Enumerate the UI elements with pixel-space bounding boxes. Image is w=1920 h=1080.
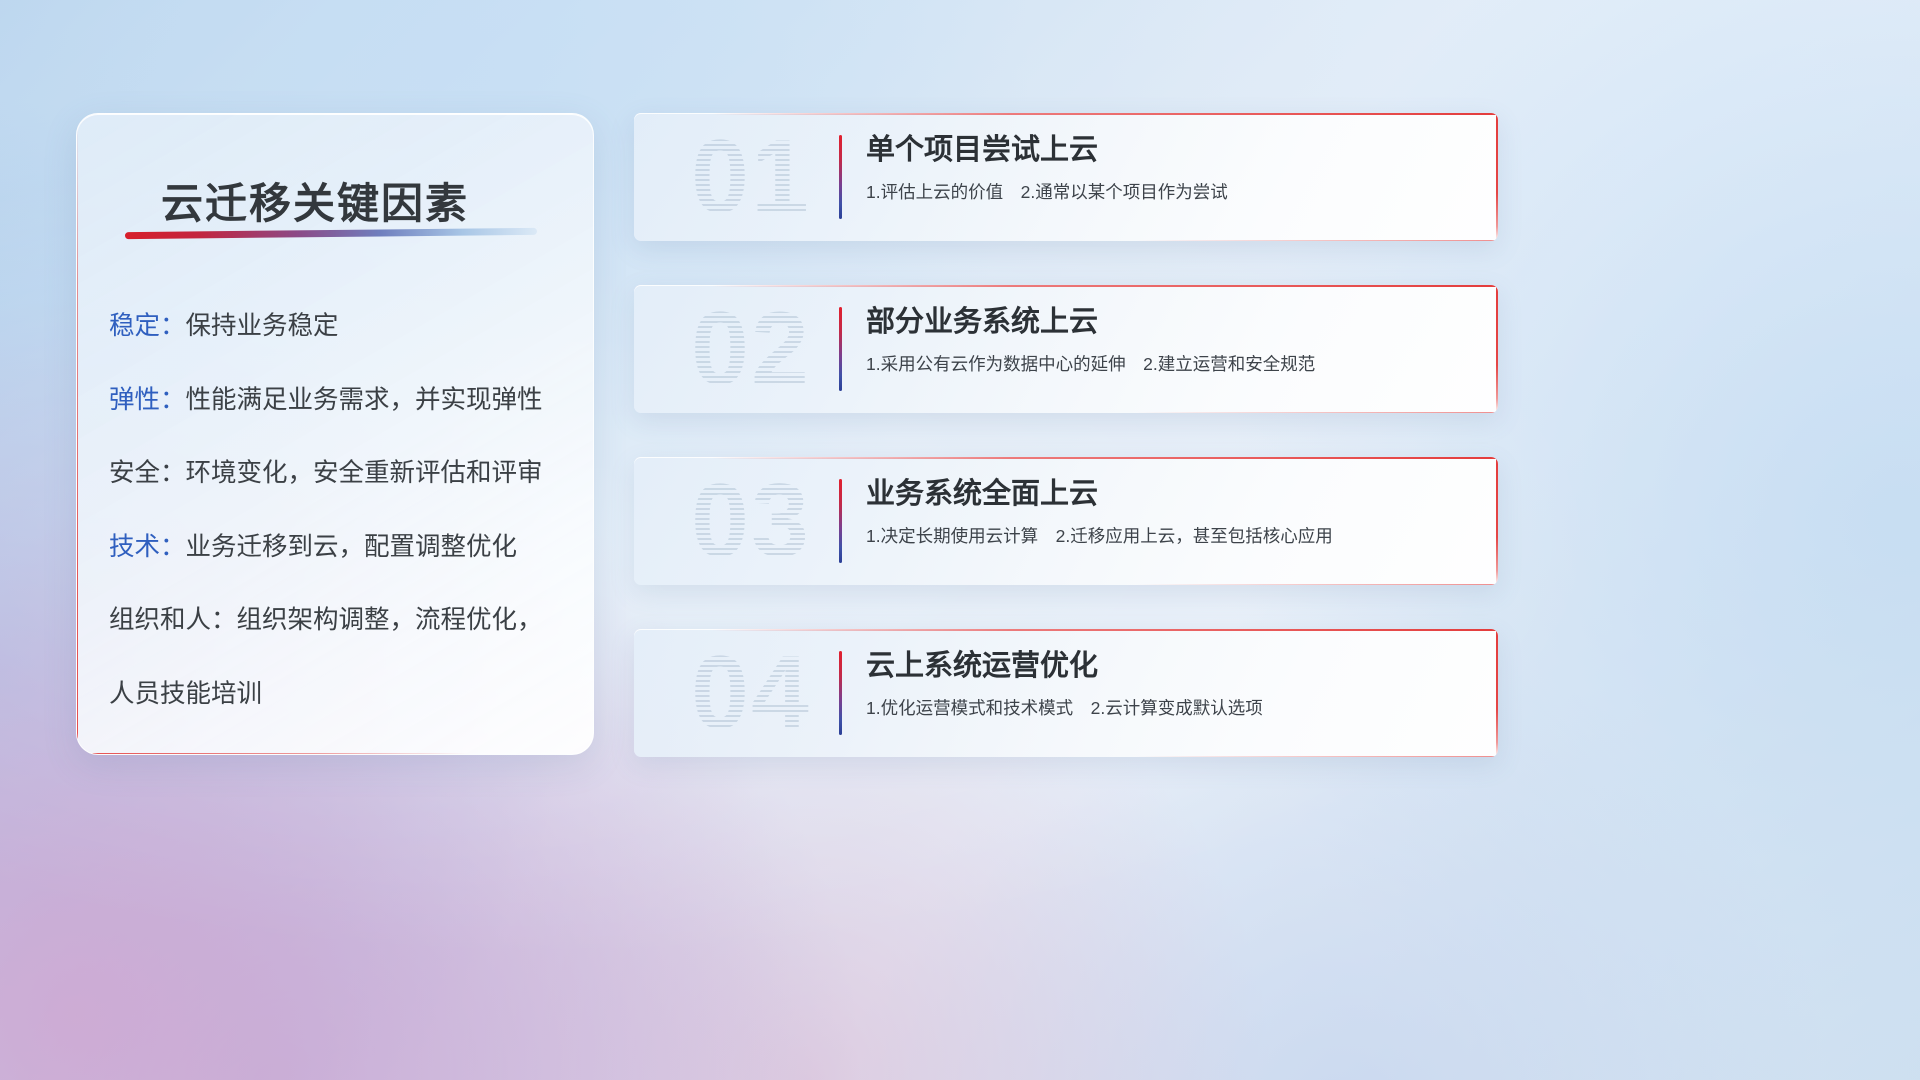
panel-bottom-accent-border xyxy=(77,753,469,755)
list-item-text: 保持业务稳定 xyxy=(186,312,339,340)
step-number-red-stripes: 02 xyxy=(656,291,846,407)
list-item: 弹性：性能满足业务需求，并实现弹性 xyxy=(109,388,575,414)
card-description: 1.决定长期使用云计算 2.迁移应用上云，甚至包括核心应用 xyxy=(866,525,1478,548)
card-bottom-accent-border xyxy=(1135,584,1498,586)
list-item-text: 人员技能培训 xyxy=(109,680,262,708)
list-item-key: 弹性： xyxy=(109,386,186,414)
list-item-key: 组织和人： xyxy=(109,606,237,634)
card-description: 1.采用公有云作为数据中心的延伸 2.建立运营和安全规范 xyxy=(866,353,1478,376)
list-item-text: 环境变化，安全重新评估和评审 xyxy=(186,459,543,487)
stage-card-list: 01 01 单个项目尝试上云 1.评估上云的价值 2.通常以某个项目作为尝试 0… xyxy=(634,113,1498,757)
card-bottom-accent-border xyxy=(1135,412,1498,414)
card-bottom-accent-border xyxy=(1135,240,1498,242)
key-factors-list: 稳定：保持业务稳定 弹性：性能满足业务需求，并实现弹性 安全：环境变化，安全重新… xyxy=(109,314,575,707)
card-divider-bar xyxy=(839,307,842,391)
card-description: 1.评估上云的价值 2.通常以某个项目作为尝试 xyxy=(866,181,1478,204)
card-bottom-accent-border xyxy=(1135,756,1498,758)
list-item: 稳定：保持业务稳定 xyxy=(109,314,575,340)
list-item: 人员技能培训 xyxy=(109,682,575,708)
list-item-text: 性能满足业务需求，并实现弹性 xyxy=(186,386,543,414)
stage-card[interactable]: 02 02 部分业务系统上云 1.采用公有云作为数据中心的延伸 2.建立运营和安… xyxy=(634,285,1498,413)
step-number-red-stripes: 04 xyxy=(656,635,846,751)
stage-card[interactable]: 01 01 单个项目尝试上云 1.评估上云的价值 2.通常以某个项目作为尝试 xyxy=(634,113,1498,241)
card-title: 云上系统运营优化 xyxy=(866,649,1478,684)
card-top-accent-border xyxy=(712,629,1498,631)
card-title: 单个项目尝试上云 xyxy=(866,133,1478,168)
card-right-accent-border xyxy=(1496,629,1498,757)
list-item: 组织和人：组织架构调整，流程优化， xyxy=(109,608,575,634)
list-item-text: 业务迁移到云，配置调整优化 xyxy=(186,533,518,561)
list-item: 技术：业务迁移到云，配置调整优化 xyxy=(109,535,575,561)
list-item-key: 稳定： xyxy=(109,312,186,340)
list-item-key: 安全： xyxy=(109,459,186,487)
card-top-accent-border xyxy=(712,113,1498,115)
step-number-watermark: 04 04 xyxy=(656,635,846,751)
step-number-red-stripes: 01 xyxy=(656,119,846,235)
panel-left-accent-border xyxy=(76,122,78,755)
card-body: 部分业务系统上云 1.采用公有云作为数据中心的延伸 2.建立运营和安全规范 xyxy=(866,305,1478,376)
card-title: 部分业务系统上云 xyxy=(866,305,1478,340)
card-top-accent-border xyxy=(712,457,1498,459)
step-number-watermark: 03 03 xyxy=(656,463,846,579)
list-item: 安全：环境变化，安全重新评估和评审 xyxy=(109,461,575,487)
card-right-accent-border xyxy=(1496,285,1498,413)
card-top-accent-border xyxy=(712,285,1498,287)
step-number-red-stripes: 03 xyxy=(656,463,846,579)
panel-title: 云迁移关键因素 xyxy=(161,170,469,231)
card-description: 1.优化运营模式和技术模式 2.云计算变成默认选项 xyxy=(866,697,1478,720)
stage-card[interactable]: 04 04 云上系统运营优化 1.优化运营模式和技术模式 2.云计算变成默认选项 xyxy=(634,629,1498,757)
list-item-key: 技术： xyxy=(109,533,186,561)
card-body: 云上系统运营优化 1.优化运营模式和技术模式 2.云计算变成默认选项 xyxy=(866,649,1478,720)
step-number-watermark: 01 01 xyxy=(656,119,846,235)
card-title: 业务系统全面上云 xyxy=(866,477,1478,512)
stage-card[interactable]: 03 03 业务系统全面上云 1.决定长期使用云计算 2.迁移应用上云，甚至包括… xyxy=(634,457,1498,585)
card-divider-bar xyxy=(839,479,842,563)
card-divider-bar xyxy=(839,135,842,219)
key-factors-panel: 云迁移关键因素 稳定：保持业务稳定 弹性：性能满足业务需求，并实现弹性 安全：环… xyxy=(76,113,594,755)
list-item-text: 组织架构调整，流程优化， xyxy=(237,606,543,634)
card-right-accent-border xyxy=(1496,457,1498,585)
card-divider-bar xyxy=(839,651,842,735)
card-body: 业务系统全面上云 1.决定长期使用云计算 2.迁移应用上云，甚至包括核心应用 xyxy=(866,477,1478,548)
step-number-watermark: 02 02 xyxy=(656,291,846,407)
card-right-accent-border xyxy=(1496,113,1498,241)
card-body: 单个项目尝试上云 1.评估上云的价值 2.通常以某个项目作为尝试 xyxy=(866,133,1478,204)
